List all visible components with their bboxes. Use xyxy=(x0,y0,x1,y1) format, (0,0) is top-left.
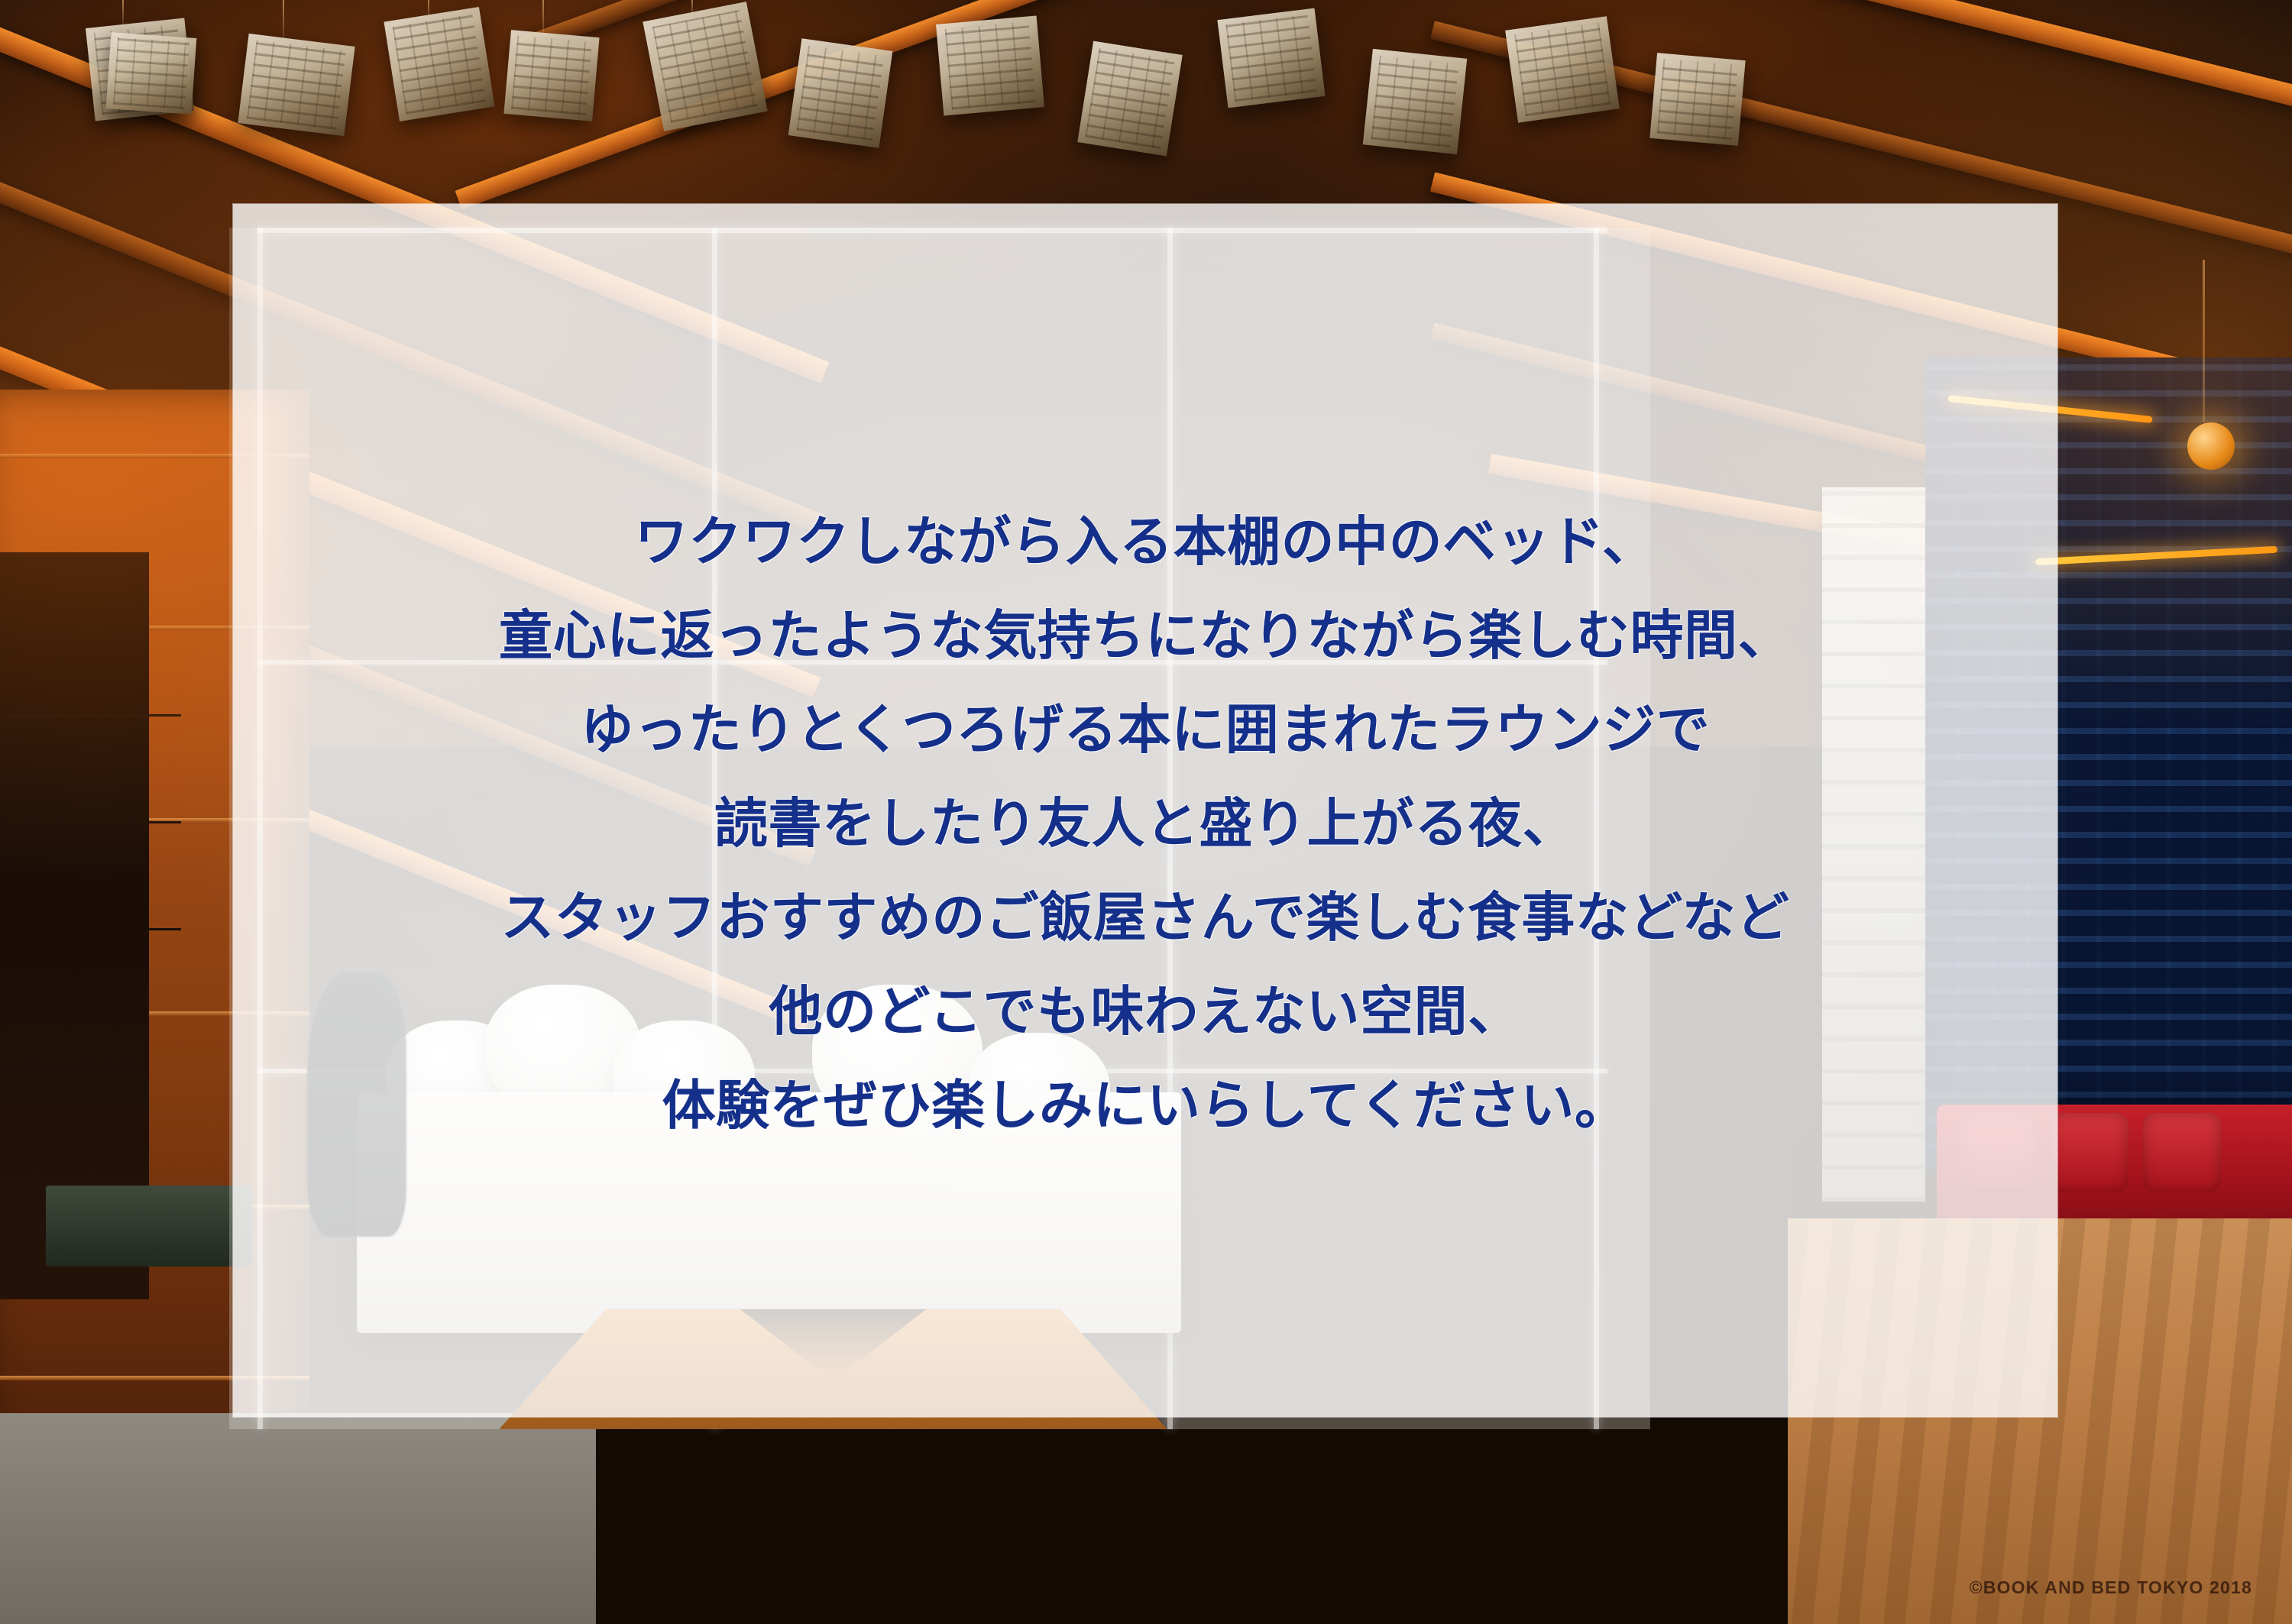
copyright-notice: ©BOOK AND BED TOKYO 2018 xyxy=(1970,1577,2252,1598)
slide-canvas: ワクワクしながら入る本棚の中のベッド、 童心に返ったような気持ちになりながら楽し… xyxy=(0,0,2292,1624)
message-line-7: 体験をぜひ楽しみにいらしてください。 xyxy=(662,1059,1629,1153)
pendant-lamp-cord xyxy=(2203,260,2205,422)
message-line-6: 他のどこでも味わえない空間、 xyxy=(769,965,1522,1059)
pendant-lamp xyxy=(2187,422,2235,470)
message-line-5: スタッフおすすめのご飯屋さんで楽しむ食事などなど xyxy=(500,871,1789,965)
green-bench-seat xyxy=(46,1186,252,1267)
message-line-2: 童心に返ったような気持ちになりながら楽しむ時間、 xyxy=(499,589,1792,683)
left-metal-rail xyxy=(9,714,181,717)
message-line-3: ゆったりとくつろげる本に囲まれたラウンジで xyxy=(581,683,1710,777)
message-line-4: 読書をしたり友人と盛り上がる夜、 xyxy=(714,777,1576,871)
message-line-1: ワクワクしながら入る本棚の中のベッド、 xyxy=(635,495,1656,589)
concrete-floor xyxy=(0,1413,596,1624)
message-block: ワクワクしながら入る本棚の中のベッド、 童心に返ったような気持ちになりながら楽し… xyxy=(233,204,2057,1417)
